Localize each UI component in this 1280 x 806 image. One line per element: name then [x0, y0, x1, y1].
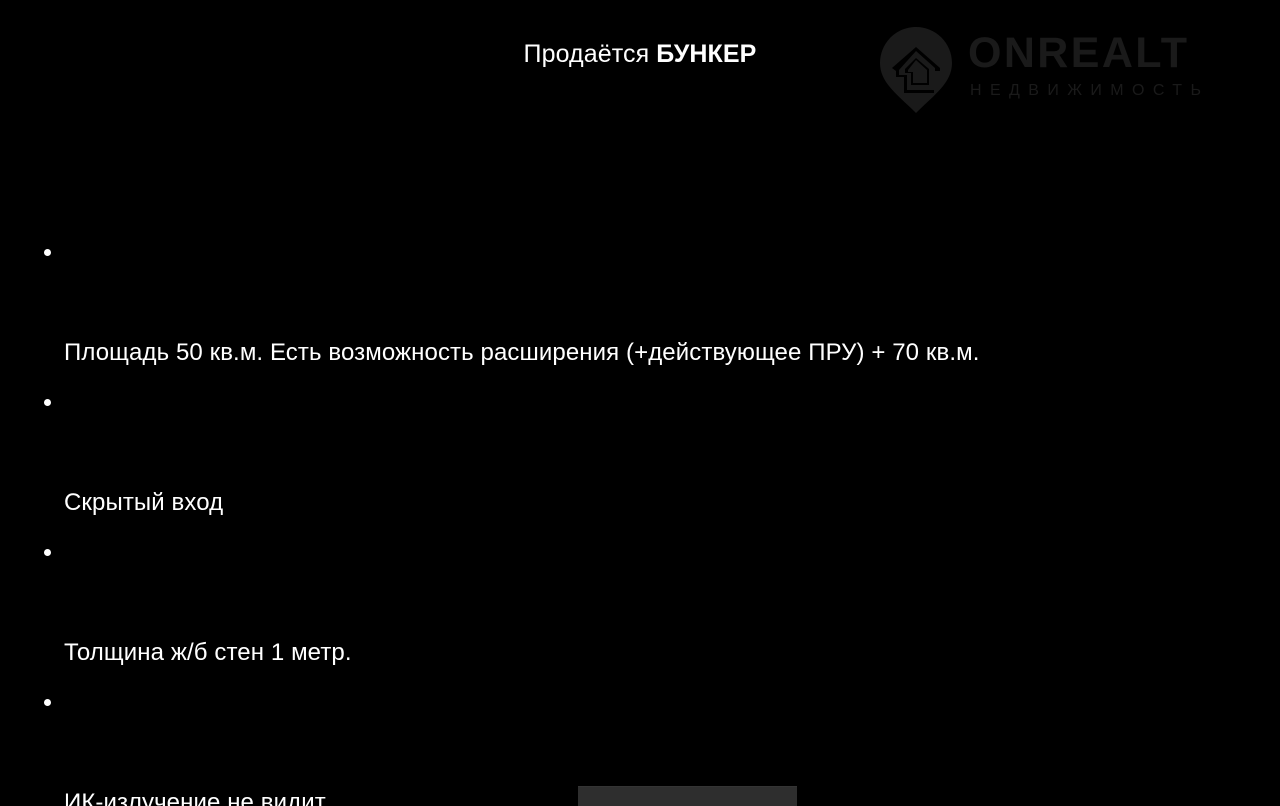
- page-title: Продаётся БУНКЕР: [0, 38, 1280, 70]
- list-item: Толщина ж/б стен 1 метр.: [38, 528, 1238, 678]
- bottom-bar: [578, 786, 797, 806]
- list-item: Площадь 50 кв.м. Есть возможность расшир…: [38, 228, 1238, 378]
- bullet-dot-icon: [44, 699, 51, 706]
- page-title-bold: БУНКЕР: [656, 40, 756, 68]
- bullet-dot-icon: [44, 399, 51, 406]
- feature-list: Площадь 50 кв.м. Есть возможность расшир…: [38, 228, 1238, 806]
- slide-canvas: Продаётся БУНКЕР ONREALT НЕДВИЖИМОСТЬ Пл…: [0, 0, 1280, 806]
- list-item-label: Скрытый вход: [64, 489, 223, 516]
- bullet-dot-icon: [44, 549, 51, 556]
- list-item-label: Толщина ж/б стен 1 метр.: [64, 639, 352, 666]
- page-title-regular: Продаётся: [524, 40, 657, 68]
- list-item: Скрытый вход: [38, 378, 1238, 528]
- list-item-label: Площадь 50 кв.м. Есть возможность расшир…: [64, 339, 980, 366]
- brand-tagline: НЕДВИЖИМОСТЬ: [970, 81, 1209, 101]
- bullet-dot-icon: [44, 249, 51, 256]
- list-item-label: ИК-излучение не видит: [64, 789, 326, 806]
